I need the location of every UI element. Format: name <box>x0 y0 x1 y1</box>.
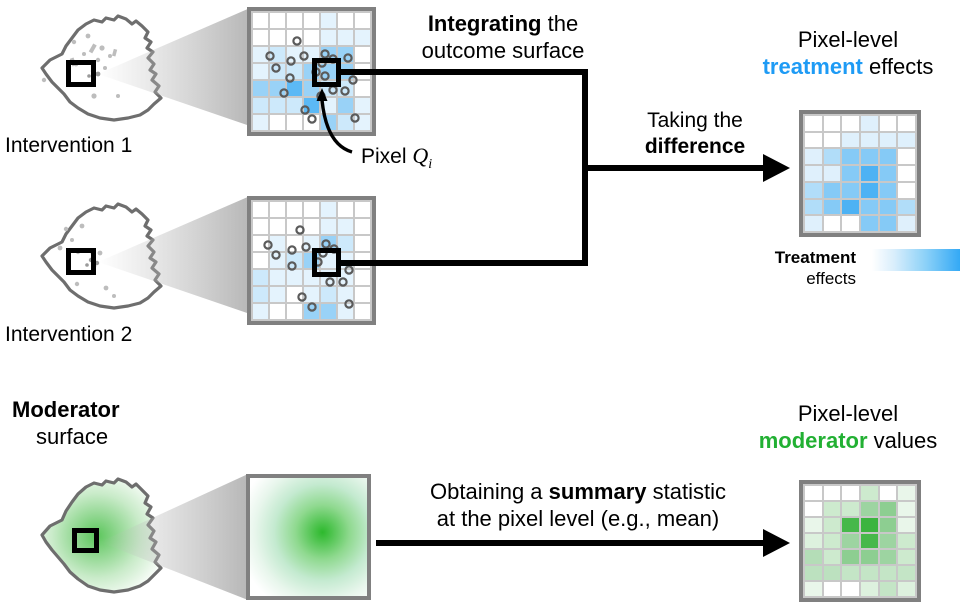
grid-cell <box>253 270 268 285</box>
grid-cell <box>304 202 319 217</box>
grid-cell <box>270 253 285 268</box>
grid-cell <box>355 287 370 302</box>
grid-cell <box>355 115 370 130</box>
summary-line2: at the pixel level (e.g., mean) <box>408 505 748 532</box>
grid-cell <box>824 550 841 564</box>
pixel-word: Pixel <box>361 145 407 168</box>
summary-caption: Obtaining a summary statistic at the pix… <box>408 478 748 532</box>
grid-cell <box>270 64 285 79</box>
grid-cell <box>824 166 841 181</box>
grid-cell <box>253 64 268 79</box>
grid-cell <box>880 116 897 131</box>
grid-cell <box>338 287 353 302</box>
grid-cell <box>321 287 336 302</box>
treatment-effects-colorbar <box>872 249 960 271</box>
grid-cell <box>824 183 841 198</box>
grid-cell <box>304 304 319 319</box>
grid-cell <box>355 270 370 285</box>
grid-cell <box>338 202 353 217</box>
grid-cell <box>898 216 915 231</box>
grid-cell <box>270 81 285 96</box>
grid-cell <box>321 304 336 319</box>
pixel-level-moderator-values-grid[interactable] <box>799 480 921 602</box>
grid-cell <box>270 202 285 217</box>
integrating-line2: outcome surface <box>388 37 618 64</box>
pixel-q-symbol: Q <box>412 143 428 168</box>
grid-cell <box>253 98 268 113</box>
grid-cell <box>880 534 897 548</box>
grid-cell <box>338 115 353 130</box>
moderator-gradient-fill <box>250 478 367 596</box>
grid-cell <box>287 64 302 79</box>
grid-cell <box>861 502 878 516</box>
moderator-word: moderator <box>759 428 868 453</box>
grid-cell <box>880 582 897 596</box>
grid-cell <box>842 149 859 164</box>
grid-cell <box>338 219 353 234</box>
summary-line1-b: statistic <box>647 479 726 504</box>
grid-cell <box>253 30 268 45</box>
grid-cell <box>824 518 841 532</box>
grid-cell <box>287 202 302 217</box>
grid-cell <box>287 219 302 234</box>
zoom-cone-moderator <box>100 474 248 600</box>
grid-cell <box>805 502 822 516</box>
grid-cell <box>842 502 859 516</box>
grid-cell <box>287 30 302 45</box>
grid-cell <box>824 133 841 148</box>
zoom-cone-2 <box>98 196 250 314</box>
grid-cell <box>287 270 302 285</box>
integrating-rest: the <box>541 11 578 36</box>
grid-cell <box>270 13 285 28</box>
grid-cell <box>898 200 915 215</box>
grid-cell <box>321 13 336 28</box>
grid-cell <box>861 149 878 164</box>
legend-subtitle: effects <box>766 268 856 289</box>
grid-cell <box>805 166 822 181</box>
grid-cell <box>270 287 285 302</box>
grid-cell <box>270 115 285 130</box>
summary-bold: summary <box>549 479 647 504</box>
grid-cell <box>880 486 897 500</box>
pixel-level-treatment-caption: Pixel-level treatment effects <box>730 26 966 80</box>
grid-cell <box>824 216 841 231</box>
grid-cell <box>842 582 859 596</box>
grid-cell <box>304 13 319 28</box>
taking-line1: Taking the <box>615 108 775 134</box>
grid-cell <box>880 566 897 580</box>
grid-cell <box>805 550 822 564</box>
grid-cell <box>880 183 897 198</box>
grid-cell <box>355 236 370 251</box>
grid-cell <box>824 149 841 164</box>
grid-cell <box>270 98 285 113</box>
grid-cell <box>270 236 285 251</box>
grid-cell <box>287 253 302 268</box>
grid-cell <box>287 304 302 319</box>
grid-cell <box>253 81 268 96</box>
grid-cell <box>824 582 841 596</box>
grid-cell <box>805 149 822 164</box>
grid-cell <box>805 534 822 548</box>
pixel-level-treatment-effects-grid[interactable] <box>799 110 921 237</box>
grid-cell <box>898 582 915 596</box>
grid-cell <box>355 81 370 96</box>
moderator-level-line1: Pixel-level <box>728 400 968 427</box>
grid-cell <box>898 550 915 564</box>
grid-cell <box>321 30 336 45</box>
grid-cell <box>842 116 859 131</box>
grid-cell <box>338 304 353 319</box>
grid-cell <box>253 236 268 251</box>
grid-cell <box>321 219 336 234</box>
grid-cell <box>270 47 285 62</box>
grid-cell <box>805 183 822 198</box>
grid-cell <box>253 253 268 268</box>
grid-cell <box>270 219 285 234</box>
grid-cell <box>805 133 822 148</box>
grid-cell <box>842 200 859 215</box>
grid-cell <box>861 582 878 596</box>
grid-cell <box>304 98 319 113</box>
grid-cell <box>861 216 878 231</box>
legend-title: Treatment <box>766 247 856 268</box>
grid-cell <box>287 81 302 96</box>
grid-cell <box>880 166 897 181</box>
grid-cell <box>338 98 353 113</box>
pixel-level-line1: Pixel-level <box>730 26 966 53</box>
moderator-surface-square <box>246 474 371 600</box>
intervention-2-pixel-qi-box[interactable] <box>312 248 341 277</box>
grid-cell <box>842 183 859 198</box>
values-word: values <box>868 428 938 453</box>
grid-cell <box>861 518 878 532</box>
grid-cell <box>805 216 822 231</box>
intervention-1-pixel-qi-box[interactable] <box>312 58 341 87</box>
grid-cell <box>898 518 915 532</box>
grid-cell <box>880 550 897 564</box>
grid-cell <box>861 566 878 580</box>
grid-cell <box>805 518 822 532</box>
intervention-1-zoom-box <box>66 60 96 87</box>
grid-cell <box>842 550 859 564</box>
grid-cell <box>287 13 302 28</box>
grid-cell <box>287 236 302 251</box>
grid-cell <box>355 98 370 113</box>
grid-cell <box>321 98 336 113</box>
grid-cell <box>253 13 268 28</box>
grid-cell <box>805 582 822 596</box>
grid-cell <box>861 550 878 564</box>
grid-cell <box>253 115 268 130</box>
moderator-title-bold: Moderator <box>12 396 242 423</box>
grid-cell <box>861 133 878 148</box>
grid-cell <box>898 183 915 198</box>
grid-cell <box>338 13 353 28</box>
grid-cell <box>824 200 841 215</box>
pixel-q-subscript: i <box>428 157 432 172</box>
grid-cell <box>321 202 336 217</box>
grid-cell <box>898 566 915 580</box>
grid-cell <box>898 534 915 548</box>
grid-cell <box>824 502 841 516</box>
grid-cell <box>880 133 897 148</box>
grid-cell <box>287 287 302 302</box>
grid-cell <box>842 486 859 500</box>
grid-cell <box>355 304 370 319</box>
summary-line1-a: Obtaining a <box>430 479 549 504</box>
grid-cell <box>842 534 859 548</box>
grid-cell <box>304 219 319 234</box>
grid-cell <box>355 30 370 45</box>
grid-cell <box>287 115 302 130</box>
grid-cell <box>842 566 859 580</box>
grid-cell <box>355 64 370 79</box>
grid-cell <box>861 166 878 181</box>
grid-cell <box>355 47 370 62</box>
moderator-zoom-box <box>72 528 99 553</box>
grid-cell <box>253 47 268 62</box>
grid-cell <box>898 149 915 164</box>
grid-cell <box>880 200 897 215</box>
grid-cell <box>824 116 841 131</box>
grid-cell <box>898 133 915 148</box>
integrating-bold: Integrating <box>428 11 542 36</box>
grid-cell <box>805 116 822 131</box>
grid-cell <box>880 216 897 231</box>
grid-cell <box>270 304 285 319</box>
grid-cell <box>898 486 915 500</box>
intervention-1-label: Intervention 1 <box>5 133 132 159</box>
grid-cell <box>861 183 878 198</box>
moderator-title-rest: surface <box>12 423 242 450</box>
grid-cell <box>321 115 336 130</box>
grid-cell <box>824 534 841 548</box>
grid-cell <box>253 287 268 302</box>
grid-cell <box>880 518 897 532</box>
pixel-qi-label: Pixel Qi <box>361 143 432 173</box>
grid-cell <box>287 98 302 113</box>
taking-difference-caption: Taking the difference <box>615 108 775 160</box>
taking-difference-bold: difference <box>615 134 775 160</box>
grid-cell <box>842 216 859 231</box>
integrating-caption: Integrating the outcome surface <box>388 10 618 64</box>
grid-cell <box>880 149 897 164</box>
grid-cell <box>338 30 353 45</box>
zoom-cone-1 <box>98 8 250 126</box>
grid-cell <box>898 166 915 181</box>
grid-cell <box>842 518 859 532</box>
grid-cell <box>270 270 285 285</box>
grid-cell <box>355 253 370 268</box>
moderator-surface-title: Moderator surface <box>12 396 242 450</box>
grid-cell <box>253 304 268 319</box>
intervention-2-label: Intervention 2 <box>5 322 132 348</box>
grid-cell <box>861 486 878 500</box>
grid-cell <box>842 133 859 148</box>
grid-cell <box>355 219 370 234</box>
intervention-2-zoom-box <box>66 248 96 275</box>
grid-cell <box>304 115 319 130</box>
grid-cell <box>880 502 897 516</box>
grid-cell <box>861 200 878 215</box>
effects-word: effects <box>863 54 934 79</box>
grid-cell <box>355 202 370 217</box>
grid-cell <box>355 13 370 28</box>
grid-cell <box>270 30 285 45</box>
grid-cell <box>898 116 915 131</box>
grid-cell <box>898 502 915 516</box>
grid-cell <box>861 116 878 131</box>
grid-cell <box>253 202 268 217</box>
treatment-word: treatment <box>763 54 863 79</box>
grid-cell <box>287 47 302 62</box>
grid-cell <box>805 486 822 500</box>
grid-cell <box>824 486 841 500</box>
grid-cell <box>805 566 822 580</box>
grid-cell <box>253 219 268 234</box>
grid-cell <box>304 287 319 302</box>
grid-cell <box>861 534 878 548</box>
grid-cell <box>805 200 822 215</box>
grid-cell <box>824 566 841 580</box>
grid-cell <box>304 30 319 45</box>
grid-cell <box>842 166 859 181</box>
pixel-level-moderator-caption: Pixel-level moderator values <box>728 400 968 454</box>
